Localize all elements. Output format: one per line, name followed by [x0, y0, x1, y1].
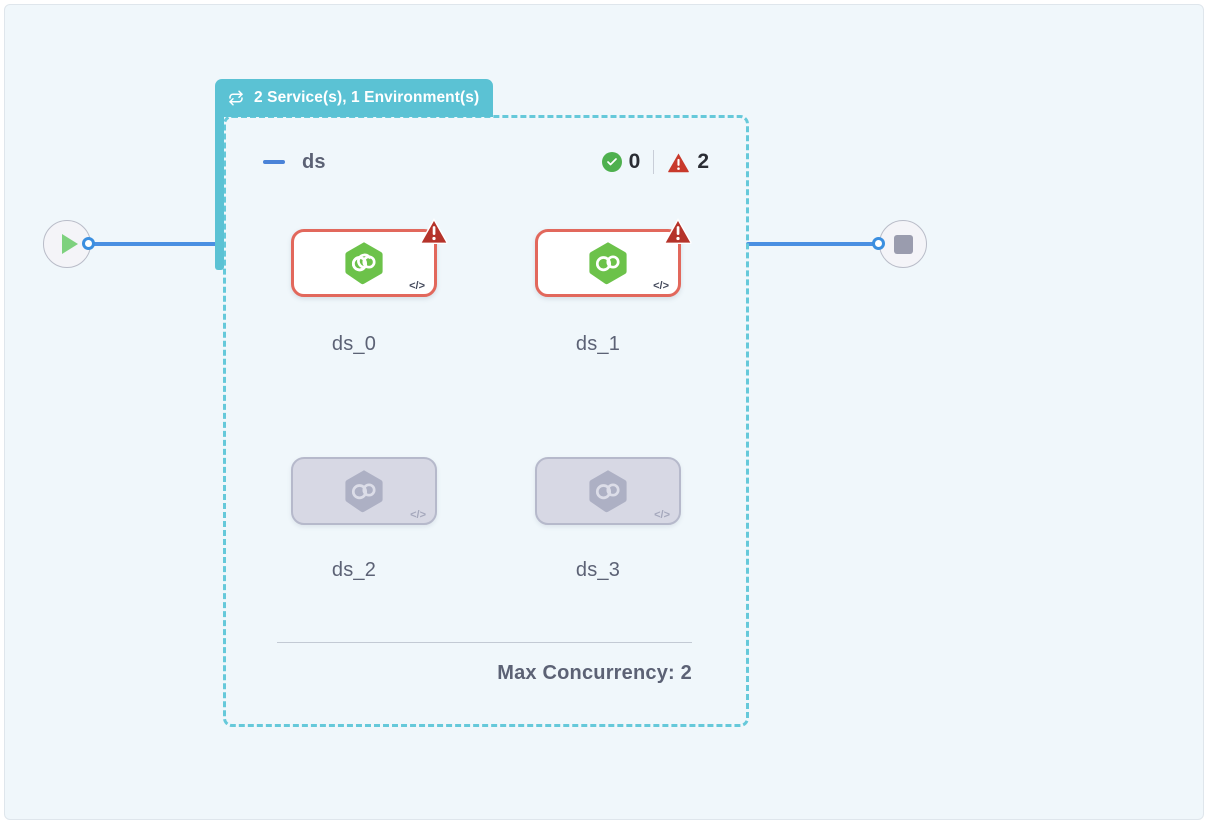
group-status-cluster: 0 2 [602, 150, 709, 174]
start-node-output-handle[interactable] [82, 237, 95, 250]
group-container-ds[interactable] [223, 115, 749, 727]
code-icon: </> [410, 509, 426, 521]
status-divider [653, 150, 654, 174]
service-node-label-ds_1: ds_1 [525, 333, 671, 356]
service-node-label-ds_0: ds_0 [281, 333, 427, 356]
edge-group-to-end[interactable] [746, 242, 878, 246]
nodejs-hexagon-icon [340, 239, 388, 287]
group-accent-spine [215, 110, 224, 270]
code-icon: </> [653, 280, 669, 292]
group-header-tab[interactable]: 2 Service(s), 1 Environment(s) [215, 79, 493, 117]
status-ok-count: 0 [629, 150, 641, 174]
code-icon: </> [654, 509, 670, 521]
nodejs-hexagon-icon [340, 467, 388, 515]
minus-icon[interactable] [263, 160, 285, 164]
max-concurrency-label: Max Concurrency: 2 [277, 662, 692, 685]
group-header-row: ds 0 2 [263, 145, 709, 179]
status-ok[interactable]: 0 [602, 150, 641, 174]
group-name-label: ds [302, 151, 326, 174]
service-node-ds_1[interactable]: </> [535, 229, 681, 297]
service-node-ds_3[interactable]: </> [535, 457, 681, 525]
status-warn-count: 2 [697, 150, 709, 174]
end-node-input-handle[interactable] [872, 237, 885, 250]
repeat-icon [227, 89, 245, 107]
edge-start-to-group[interactable] [91, 242, 219, 246]
group-tab-label: 2 Service(s), 1 Environment(s) [254, 89, 479, 107]
status-warn[interactable]: 2 [667, 150, 709, 174]
end-node[interactable] [879, 220, 927, 268]
flow-canvas[interactable]: 2 Service(s), 1 Environment(s) ds 0 [4, 4, 1204, 820]
service-node-label-ds_3: ds_3 [525, 559, 671, 582]
check-circle-icon [602, 152, 622, 172]
warning-triangle-icon [667, 152, 690, 173]
nodejs-hexagon-icon [584, 239, 632, 287]
play-icon [62, 234, 78, 254]
service-node-label-ds_2: ds_2 [281, 559, 427, 582]
node-warning-badge[interactable] [664, 218, 692, 244]
nodejs-hexagon-icon [584, 467, 632, 515]
service-node-ds_0[interactable]: </> [291, 229, 437, 297]
footer-divider [277, 642, 692, 643]
stop-icon [894, 235, 913, 254]
service-node-ds_2[interactable]: </> [291, 457, 437, 525]
node-warning-badge[interactable] [420, 218, 448, 244]
code-icon: </> [409, 280, 425, 292]
